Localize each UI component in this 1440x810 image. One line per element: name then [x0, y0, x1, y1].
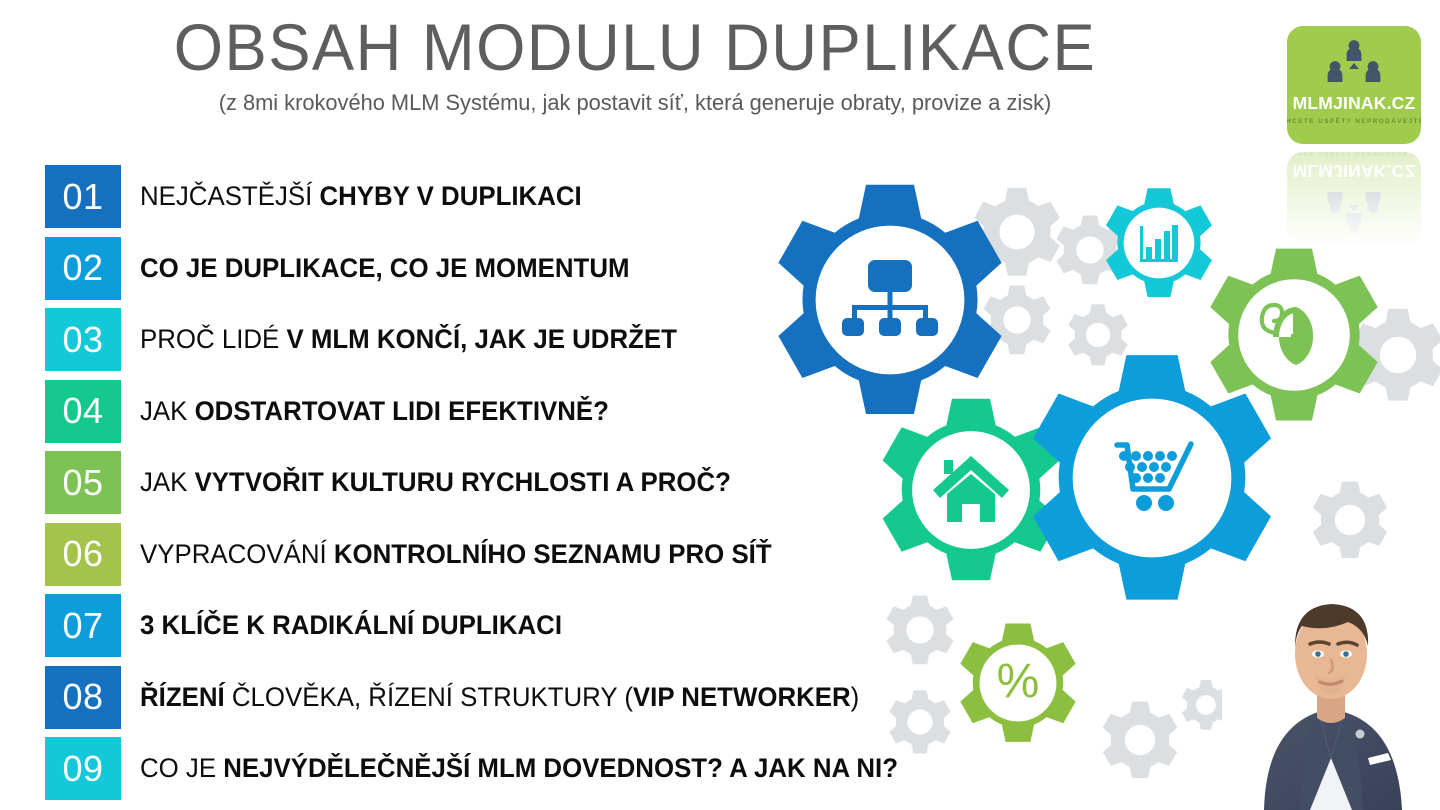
label-bold: CHYBY V DUPLIKACI [319, 181, 581, 211]
three-people-network-icon [1326, 39, 1382, 90]
label-bold: ODSTARTOVAT LIDI EFEKTIVNĚ? [195, 396, 609, 426]
list-item-label: PROČ LIDÉ V MLM KONČÍ, JAK JE UDRŽET [140, 326, 677, 353]
list-item-label: VYPRACOVÁNÍ KONTROLNÍHO SEZNAMU PRO SÍŤ [140, 541, 772, 568]
label-bold: KONTROLNÍHO SEZNAMU PRO SÍŤ [334, 539, 772, 569]
label-bold: 3 KLÍČE K RADIKÁLNÍ DUPLIKACI [140, 610, 562, 640]
list-item-number: 06 [45, 523, 121, 586]
logo-tagline: CHCETE USPĚT? NEPRODÁVEJTE. [1287, 118, 1421, 125]
label-tail-2: ) [851, 682, 860, 712]
label-bold: V MLM KONČÍ, JAK JE UDRŽET [286, 324, 676, 354]
svg-text:%: % [997, 655, 1040, 708]
label-bold: ŘÍZENÍ [140, 682, 225, 712]
list-item-number: 02 [45, 237, 121, 300]
list-item[interactable]: 01 NEJČASTĚJŠÍ CHYBY V DUPLIKACI [45, 165, 917, 228]
list-item-number: 01 [45, 165, 121, 228]
label-plain: PROČ LIDÉ [140, 324, 286, 354]
logo-name-reflection: MLMJINAK.CZ [1293, 160, 1416, 181]
list-item-number: 03 [45, 308, 121, 371]
list-item[interactable]: 08 ŘÍZENÍ ČLOVĚKA, ŘÍZENÍ STRUKTURY (VIP… [45, 666, 917, 729]
shopping-cart-icon [1117, 444, 1191, 511]
label-bold: NEJVÝDĚLEČNĚJŠÍ MLM DOVEDNOST? A JAK NA … [223, 753, 898, 783]
list-item-number: 05 [45, 451, 121, 514]
list-item-label: CO JE NEJVÝDĚLEČNĚJŠÍ MLM DOVEDNOST? A J… [140, 755, 898, 782]
logo[interactable]: MLMJINAK.CZ CHCETE USPĚT? NEPRODÁVEJTE. [1287, 26, 1421, 144]
list-item-number: 08 [45, 666, 121, 729]
list-item[interactable]: 07 3 KLÍČE K RADIKÁLNÍ DUPLIKACI [45, 594, 917, 657]
logo-reflection: MLMJINAK.CZ CHCETE USPĚT? NEPRODÁVEJTE. [1287, 152, 1421, 248]
list-item[interactable]: 03 PROČ LIDÉ V MLM KONČÍ, JAK JE UDRŽET [45, 308, 917, 371]
logo-tagline-reflection: CHCETE USPĚT? NEPRODÁVEJTE. [1287, 152, 1421, 156]
label-plain: NEJČASTĚJŠÍ [140, 181, 319, 211]
three-people-network-icon [1326, 184, 1382, 235]
list-item-label: CO JE DUPLIKACE, CO JE MOMENTUM [140, 255, 630, 282]
label-bold-2: VIP NETWORKER [633, 682, 851, 712]
computer-mouse-icon [1262, 305, 1313, 365]
list-item-number: 09 [45, 737, 121, 800]
label-plain: CO JE [140, 753, 223, 783]
page-subtitle: (z 8mi krokového MLM Systému, jak postav… [19, 90, 1251, 116]
logo-name: MLMJINAK.CZ [1293, 93, 1416, 114]
label-plain: JAK [140, 467, 195, 497]
list-item-label: JAK VYTVOŘIT KULTURU RYCHLOSTI A PROČ? [140, 469, 731, 496]
page-title: OBSAH MODULU DUPLIKACE [25, 14, 1244, 80]
bar-chart-icon [1140, 225, 1178, 262]
list-item[interactable]: 09 CO JE NEJVÝDĚLEČNĚJŠÍ MLM DOVEDNOST? … [45, 737, 917, 800]
label-tail: ČLOVĚKA, ŘÍZENÍ STRUKTURY ( [225, 682, 633, 712]
label-bold: VYTVOŘIT KULTURU RYCHLOSTI A PROČ? [195, 467, 731, 497]
slide-canvas: OBSAH MODULU DUPLIKACE (z 8mi krokového … [0, 0, 1440, 810]
list-item[interactable]: 06 VYPRACOVÁNÍ KONTROLNÍHO SEZNAMU PRO S… [45, 523, 917, 586]
list-item[interactable]: 05 JAK VYTVOŘIT KULTURU RYCHLOSTI A PROČ… [45, 451, 917, 514]
header: OBSAH MODULU DUPLIKACE (z 8mi krokového … [0, 14, 1270, 116]
gear-mouse [1210, 249, 1377, 421]
presenter-photo [1222, 562, 1440, 810]
gear-chart [1106, 188, 1212, 297]
label-plain: VYPRACOVÁNÍ [140, 539, 334, 569]
list-item-number: 04 [45, 380, 121, 443]
list-item-number: 07 [45, 594, 121, 657]
list-item[interactable]: 02 CO JE DUPLIKACE, CO JE MOMENTUM [45, 237, 917, 300]
list-item-label: 3 KLÍČE K RADIKÁLNÍ DUPLIKACI [140, 612, 562, 639]
list-item[interactable]: 04 JAK ODSTARTOVAT LIDI EFEKTIVNĚ? [45, 380, 917, 443]
list-item-label: ŘÍZENÍ ČLOVĚKA, ŘÍZENÍ STRUKTURY (VIP NE… [140, 684, 859, 711]
contents-list: 01 NEJČASTĚJŠÍ CHYBY V DUPLIKACI 02 CO J… [45, 165, 917, 809]
list-item-label: JAK ODSTARTOVAT LIDI EFEKTIVNĚ? [140, 398, 609, 425]
gear-percent: % [960, 623, 1075, 741]
list-item-label: NEJČASTĚJŠÍ CHYBY V DUPLIKACI [140, 183, 582, 210]
house-icon [933, 456, 1009, 522]
percent-icon: % [997, 655, 1040, 708]
label-plain: JAK [140, 396, 195, 426]
label-bold: CO JE DUPLIKACE, CO JE MOMENTUM [140, 253, 630, 283]
